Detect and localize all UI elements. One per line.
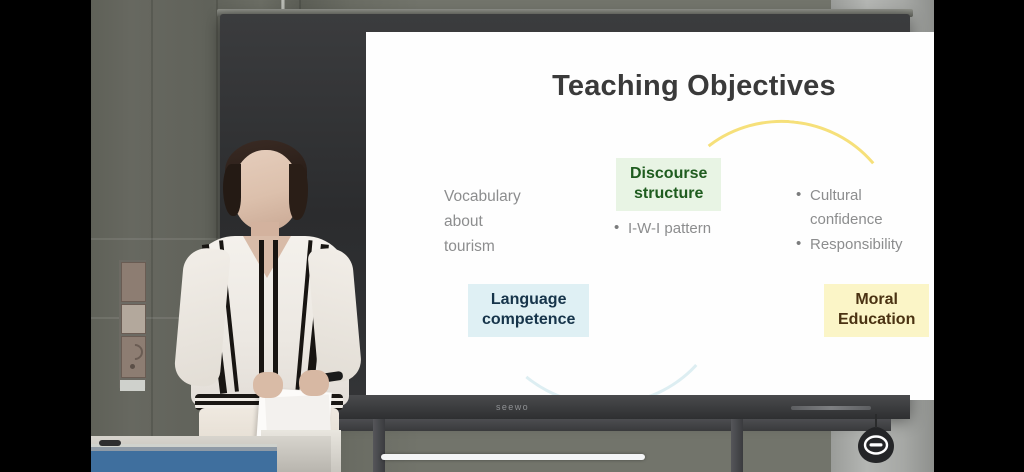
presenter-hand-right bbox=[299, 370, 329, 396]
board-stand-right bbox=[731, 419, 743, 472]
moral-bullet-2: Responsibility bbox=[796, 233, 903, 257]
chip-language-line-2: competence bbox=[482, 310, 575, 330]
chip-language-competence: Language competence bbox=[468, 284, 589, 337]
panel-indicator-dot bbox=[130, 364, 135, 369]
letterbox-right bbox=[934, 0, 1024, 472]
discourse-bullet-1: I-W-I pattern bbox=[614, 217, 711, 241]
chip-discourse-structure: Discourse structure bbox=[616, 158, 721, 211]
vocabulary-cluster: Vocabulary about tourism bbox=[444, 184, 521, 259]
board-stand-left bbox=[373, 419, 385, 472]
vocabulary-line-2: about bbox=[444, 209, 521, 234]
classroom-scene: Teaching Objectives Vocabulary about tou… bbox=[91, 0, 934, 472]
slide-title: Teaching Objectives bbox=[366, 70, 934, 103]
chip-moral-line-2: Education bbox=[838, 310, 915, 330]
watermark-hook bbox=[875, 414, 877, 428]
moral-bullet-1-cont: confidence bbox=[796, 208, 903, 232]
presenter-hand-left bbox=[253, 372, 283, 398]
moral-bullet-1: Cultural bbox=[796, 184, 903, 208]
wall-seam bbox=[151, 0, 153, 472]
presenter-hair-left bbox=[223, 164, 241, 216]
video-progress-bar[interactable] bbox=[381, 454, 645, 460]
panel-button[interactable] bbox=[121, 262, 146, 302]
panel-button[interactable] bbox=[121, 304, 146, 334]
presentation-slide: Teaching Objectives Vocabulary about tou… bbox=[366, 32, 934, 400]
video-frame: Teaching Objectives Vocabulary about tou… bbox=[0, 0, 1024, 472]
watermark-icon bbox=[855, 424, 897, 466]
letterbox-left bbox=[0, 0, 91, 472]
presenter bbox=[171, 140, 361, 472]
chip-discourse-line-1: Discourse bbox=[630, 164, 707, 184]
vocabulary-line-3: tourism bbox=[444, 234, 521, 259]
board-status-led-strip bbox=[791, 406, 871, 410]
desk-monitor bbox=[91, 444, 277, 472]
chip-moral-education: Moral Education bbox=[824, 284, 929, 337]
chip-moral-line-1: Moral bbox=[838, 290, 915, 310]
panel-label-plate bbox=[120, 380, 145, 391]
moral-cluster: Cultural confidence Responsibility bbox=[796, 184, 903, 257]
channel-watermark-logo bbox=[855, 424, 897, 466]
chip-language-line-1: Language bbox=[482, 290, 575, 310]
chip-discourse-line-2: structure bbox=[630, 184, 707, 204]
seewo-brand-logo: seewo bbox=[496, 402, 529, 412]
discourse-cluster: I-W-I pattern bbox=[614, 217, 711, 241]
monitor-camera bbox=[99, 440, 121, 446]
presenter-hair-right bbox=[289, 164, 308, 220]
vocabulary-line-1: Vocabulary bbox=[444, 184, 521, 209]
wall-control-panel[interactable] bbox=[119, 260, 146, 388]
